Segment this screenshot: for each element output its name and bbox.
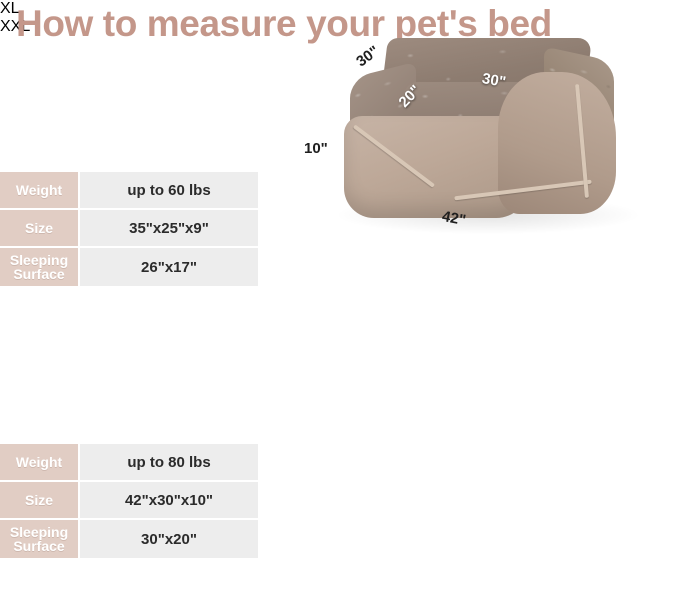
spec-label-weight: Weight (0, 444, 78, 480)
spec-label-size: Size (0, 210, 78, 246)
table-row: Sleeping Surface 30"x20" (0, 520, 258, 558)
spec-value-size: 35"x25"x9" (80, 210, 258, 246)
spec-table-xxl: Weight up to 80 lbs Size 42"x30"x10" Sle… (0, 444, 258, 560)
spec-label-sleeping-surface: Sleeping Surface (0, 520, 78, 558)
table-row: Weight up to 80 lbs (0, 444, 258, 480)
bed-front-bolster (300, 533, 496, 604)
table-row: Sleeping Surface 26"x17" (0, 248, 258, 286)
spec-table-xl: Weight up to 60 lbs Size 35"x25"x9" Slee… (0, 172, 258, 288)
bed-right-bolster (300, 235, 370, 368)
bed-sleeping-pad (300, 464, 472, 542)
table-row: Size 35"x25"x9" (0, 210, 258, 246)
spec-label-size: Size (0, 482, 78, 518)
spec-value-weight: up to 60 lbs (80, 172, 258, 208)
spec-value-sleeping-surface: 30"x20" (80, 520, 258, 558)
spec-value-sleeping-surface: 26"x17" (80, 248, 258, 286)
spec-value-size: 42"x30"x10" (80, 482, 258, 518)
bed-left-bolster (300, 352, 364, 472)
spec-value-weight: up to 80 lbs (80, 444, 258, 480)
spec-label-line-2: Surface (13, 538, 64, 554)
table-row: Weight up to 60 lbs (0, 172, 258, 208)
table-row: Size 42"x30"x10" (0, 482, 258, 518)
spec-label-sleeping-surface: Sleeping Surface (0, 248, 78, 286)
infographic-page: How to measure your pet's bed Weight up … (0, 0, 679, 614)
spec-label-line-2: Surface (13, 266, 64, 282)
spec-label-weight: Weight (0, 172, 78, 208)
